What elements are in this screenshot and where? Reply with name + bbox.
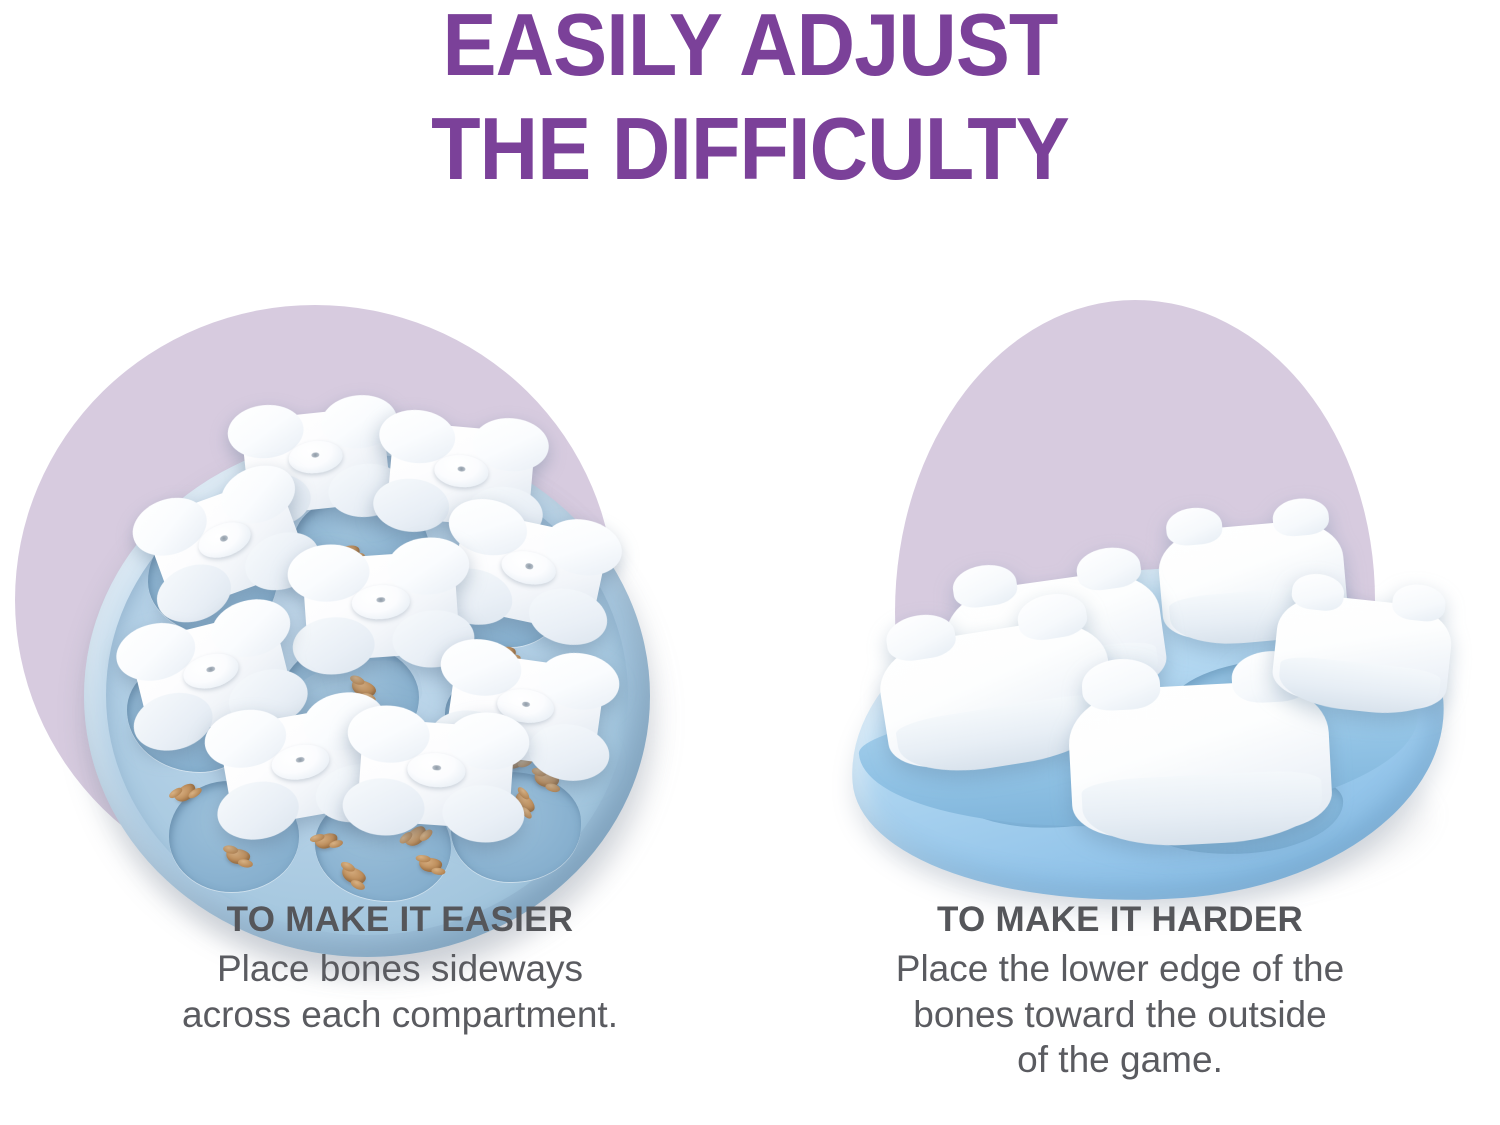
- bone-piece[interactable]: [446, 509, 609, 635]
- product-photo-easier: [60, 375, 680, 975]
- headline-line-2: THE DIFFICULTY: [60, 106, 1440, 192]
- caption-heading-harder: TO MAKE IT HARDER: [770, 900, 1470, 939]
- caption-body-line: bones toward the outside: [770, 992, 1470, 1038]
- caption-heading-easier: TO MAKE IT EASIER: [30, 900, 770, 939]
- infographic-page: EASILY ADJUST THE DIFFICULTY: [0, 0, 1500, 1125]
- caption-body-line: Place the lower edge of the: [770, 946, 1470, 992]
- captions-row: TO MAKE IT EASIER Place bones sideways a…: [0, 900, 1500, 1125]
- caption-body-line: of the game.: [770, 1037, 1470, 1083]
- caption-body-easier: Place bones sideways across each compart…: [30, 946, 770, 1037]
- headline-line-1: EASILY ADJUST: [60, 2, 1440, 88]
- page-title: EASILY ADJUST THE DIFFICULTY: [0, 0, 1500, 192]
- caption-harder: TO MAKE IT HARDER Place the lower edge o…: [770, 900, 1470, 1083]
- caption-body-line: across each compartment.: [30, 992, 770, 1038]
- caption-body-harder: Place the lower edge of the bones toward…: [770, 946, 1470, 1083]
- caption-body-line: Place bones sideways: [30, 946, 770, 992]
- bone-piece[interactable]: [302, 550, 461, 662]
- caption-easier: TO MAKE IT EASIER Place bones sideways a…: [30, 900, 770, 1037]
- bone-piece[interactable]: [1270, 591, 1455, 714]
- kibble-piece: [418, 857, 443, 874]
- product-photo-harder: [820, 395, 1460, 955]
- bone-piece[interactable]: [1066, 678, 1333, 841]
- bone-piece[interactable]: [357, 718, 516, 830]
